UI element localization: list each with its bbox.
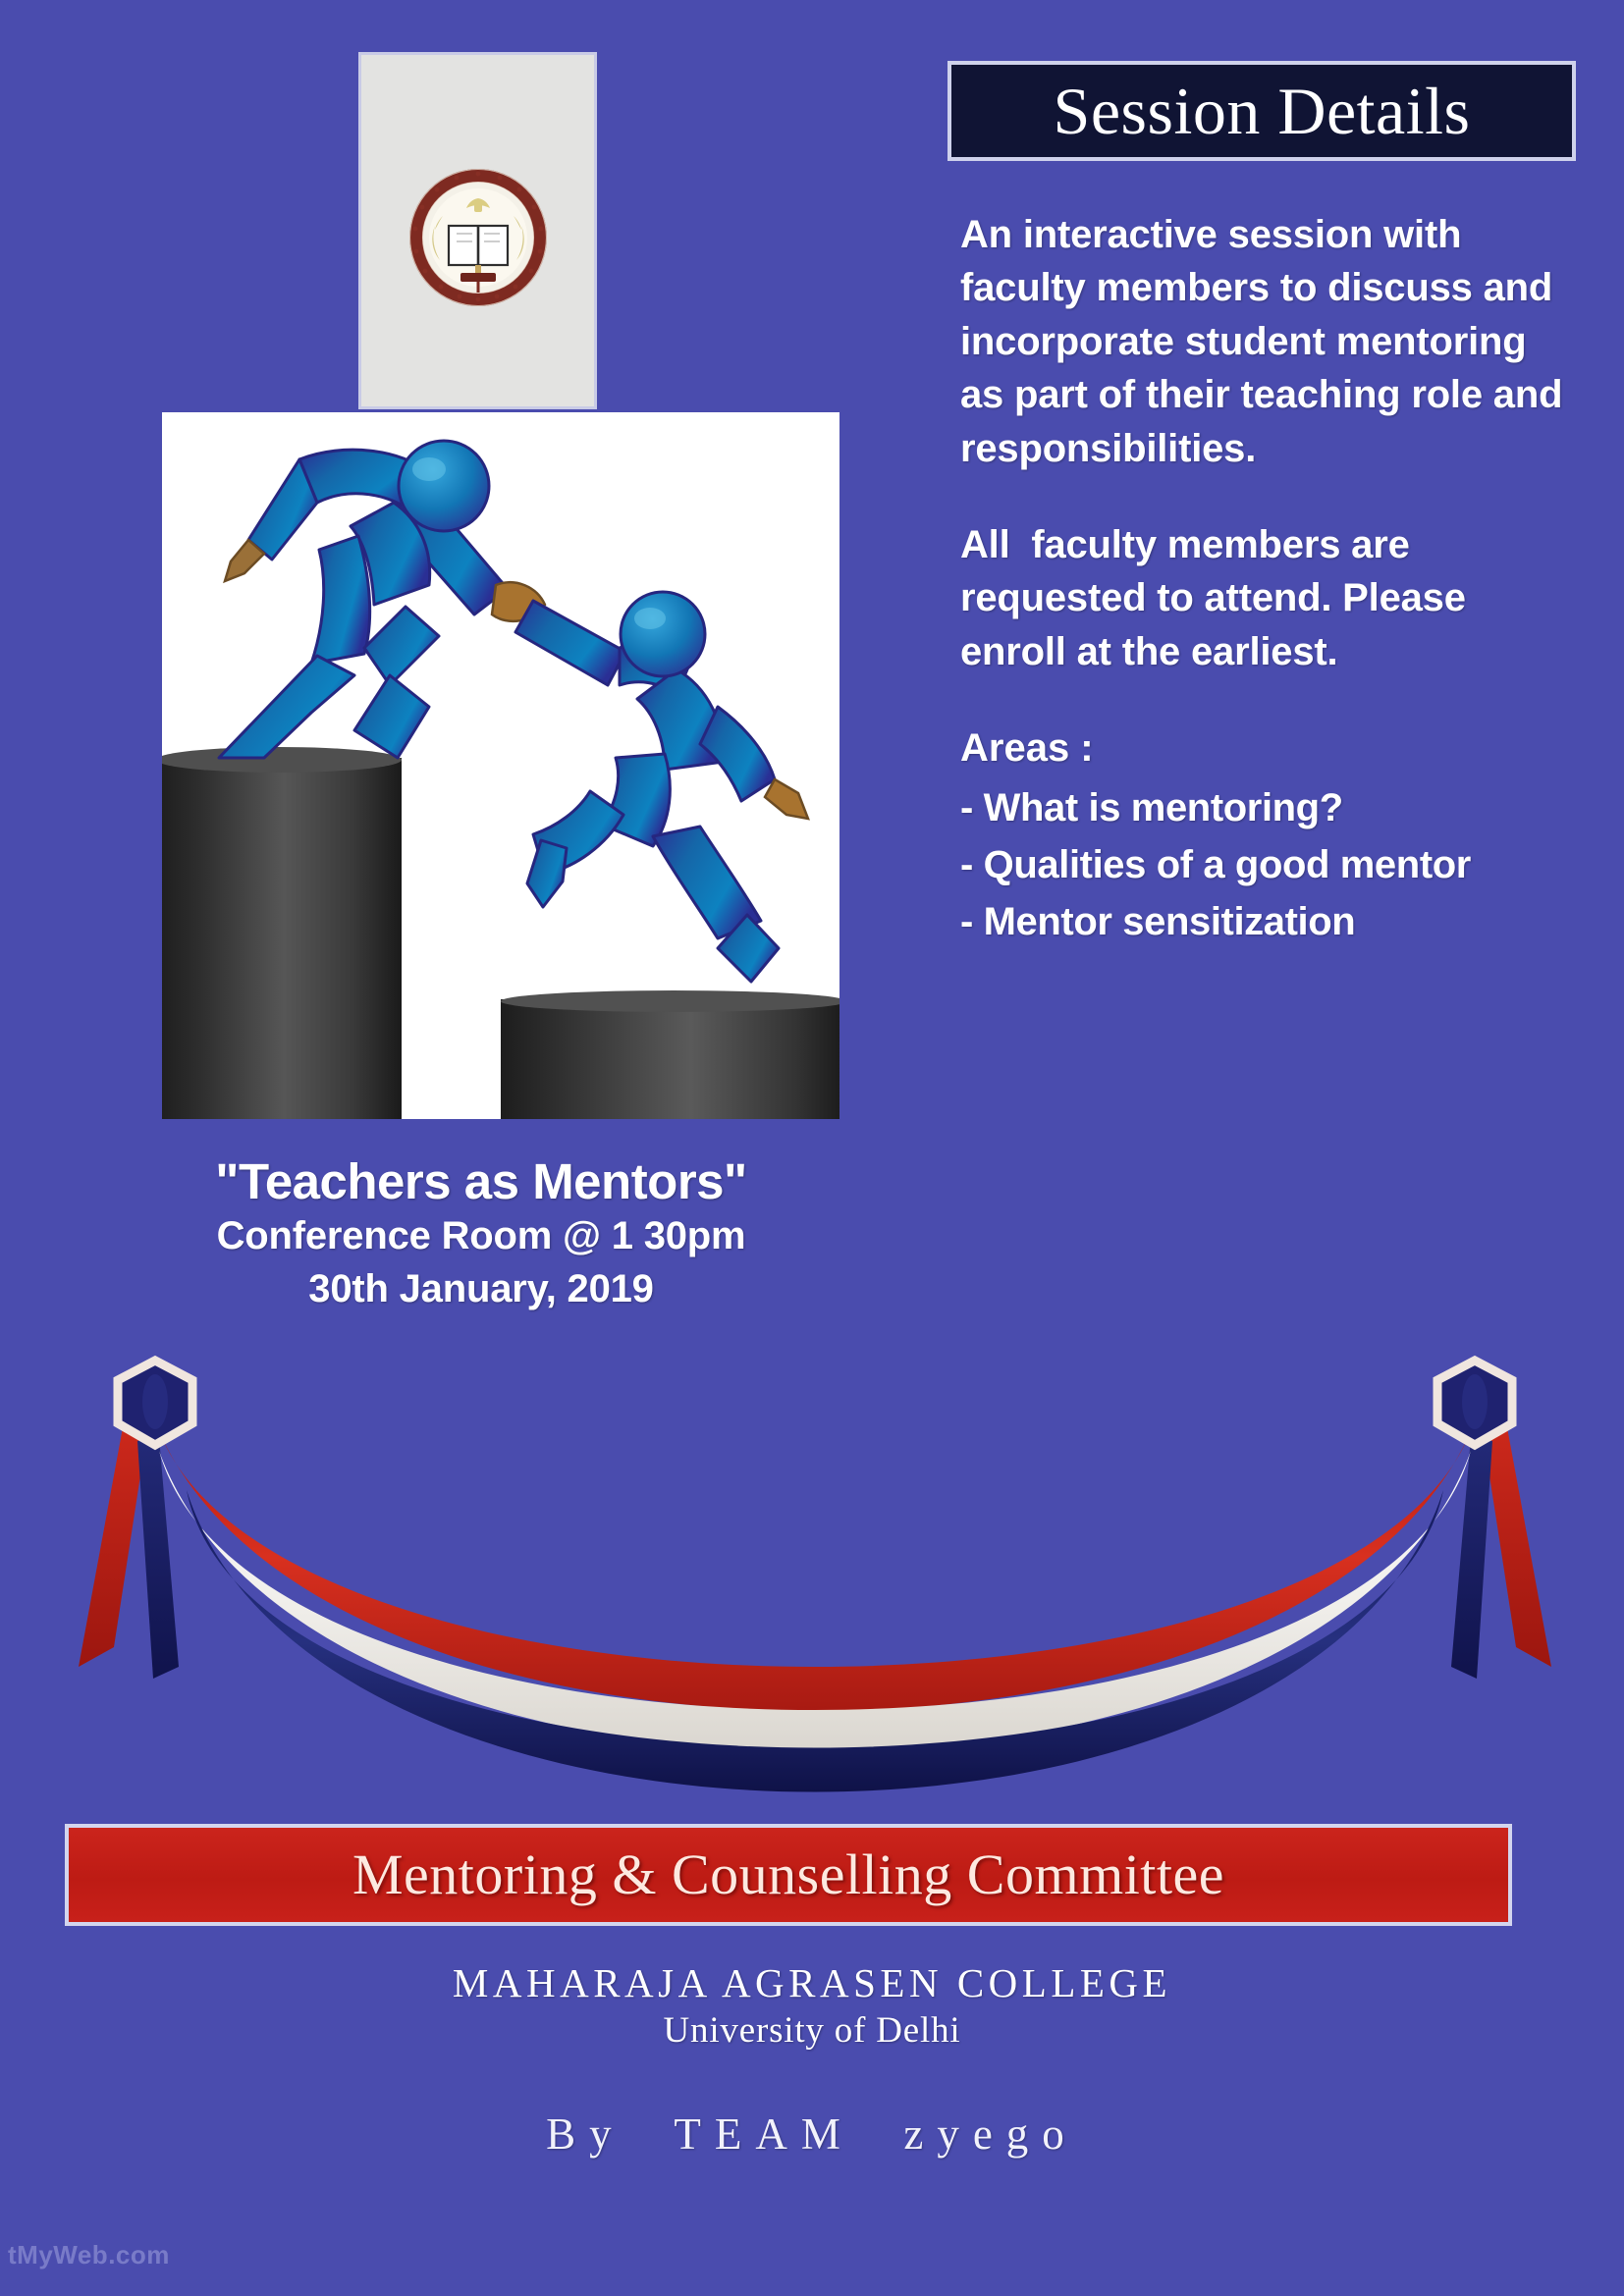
rosette-right-icon bbox=[1437, 1361, 1512, 1445]
tricolor-swag-decoration bbox=[69, 1343, 1561, 1804]
session-details-title: Session Details bbox=[1054, 78, 1471, 144]
session-description-paragraph: An interactive session with faculty memb… bbox=[960, 208, 1569, 475]
event-date: 30th January, 2019 bbox=[59, 1262, 903, 1315]
institution-footer: MAHARAJA AGRASEN COLLEGE University of D… bbox=[0, 1958, 1624, 2055]
session-attendance-paragraph: All faculty members are requested to att… bbox=[960, 518, 1569, 678]
areas-label: Areas : bbox=[960, 721, 1569, 774]
poster-canvas: "Teachers as Mentors" Conference Room @ … bbox=[0, 0, 1624, 2296]
tricolor-swag-icon bbox=[69, 1343, 1561, 1804]
watermark-text: tMyWeb.com bbox=[8, 2240, 170, 2270]
event-venue-time: Conference Room @ 1 30pm bbox=[59, 1209, 903, 1262]
event-title: "Teachers as Mentors" bbox=[59, 1153, 903, 1209]
college-seal-icon bbox=[406, 165, 551, 310]
session-details-header: Session Details bbox=[947, 61, 1576, 161]
college-logo-panel bbox=[361, 55, 594, 406]
area-item: - Mentor sensitization bbox=[960, 893, 1569, 950]
college-name: MAHARAJA AGRASEN COLLEGE bbox=[0, 1958, 1624, 2007]
committee-banner-text: Mentoring & Counselling Committee bbox=[352, 1846, 1224, 1903]
area-item: - Qualities of a good mentor bbox=[960, 836, 1569, 893]
mentoring-illustration-card bbox=[162, 412, 839, 1119]
event-info-block: "Teachers as Mentors" Conference Room @ … bbox=[59, 1153, 903, 1315]
credit-line: By TEAM zyego bbox=[0, 2109, 1624, 2160]
committee-banner: Mentoring & Counselling Committee bbox=[65, 1824, 1512, 1926]
area-item: - What is mentoring? bbox=[960, 779, 1569, 836]
mentor-helping-hand-icon bbox=[162, 412, 839, 1119]
rosette-left-icon bbox=[118, 1361, 192, 1445]
university-name: University of Delhi bbox=[0, 2007, 1624, 2055]
session-details-body: An interactive session with faculty memb… bbox=[960, 208, 1569, 950]
